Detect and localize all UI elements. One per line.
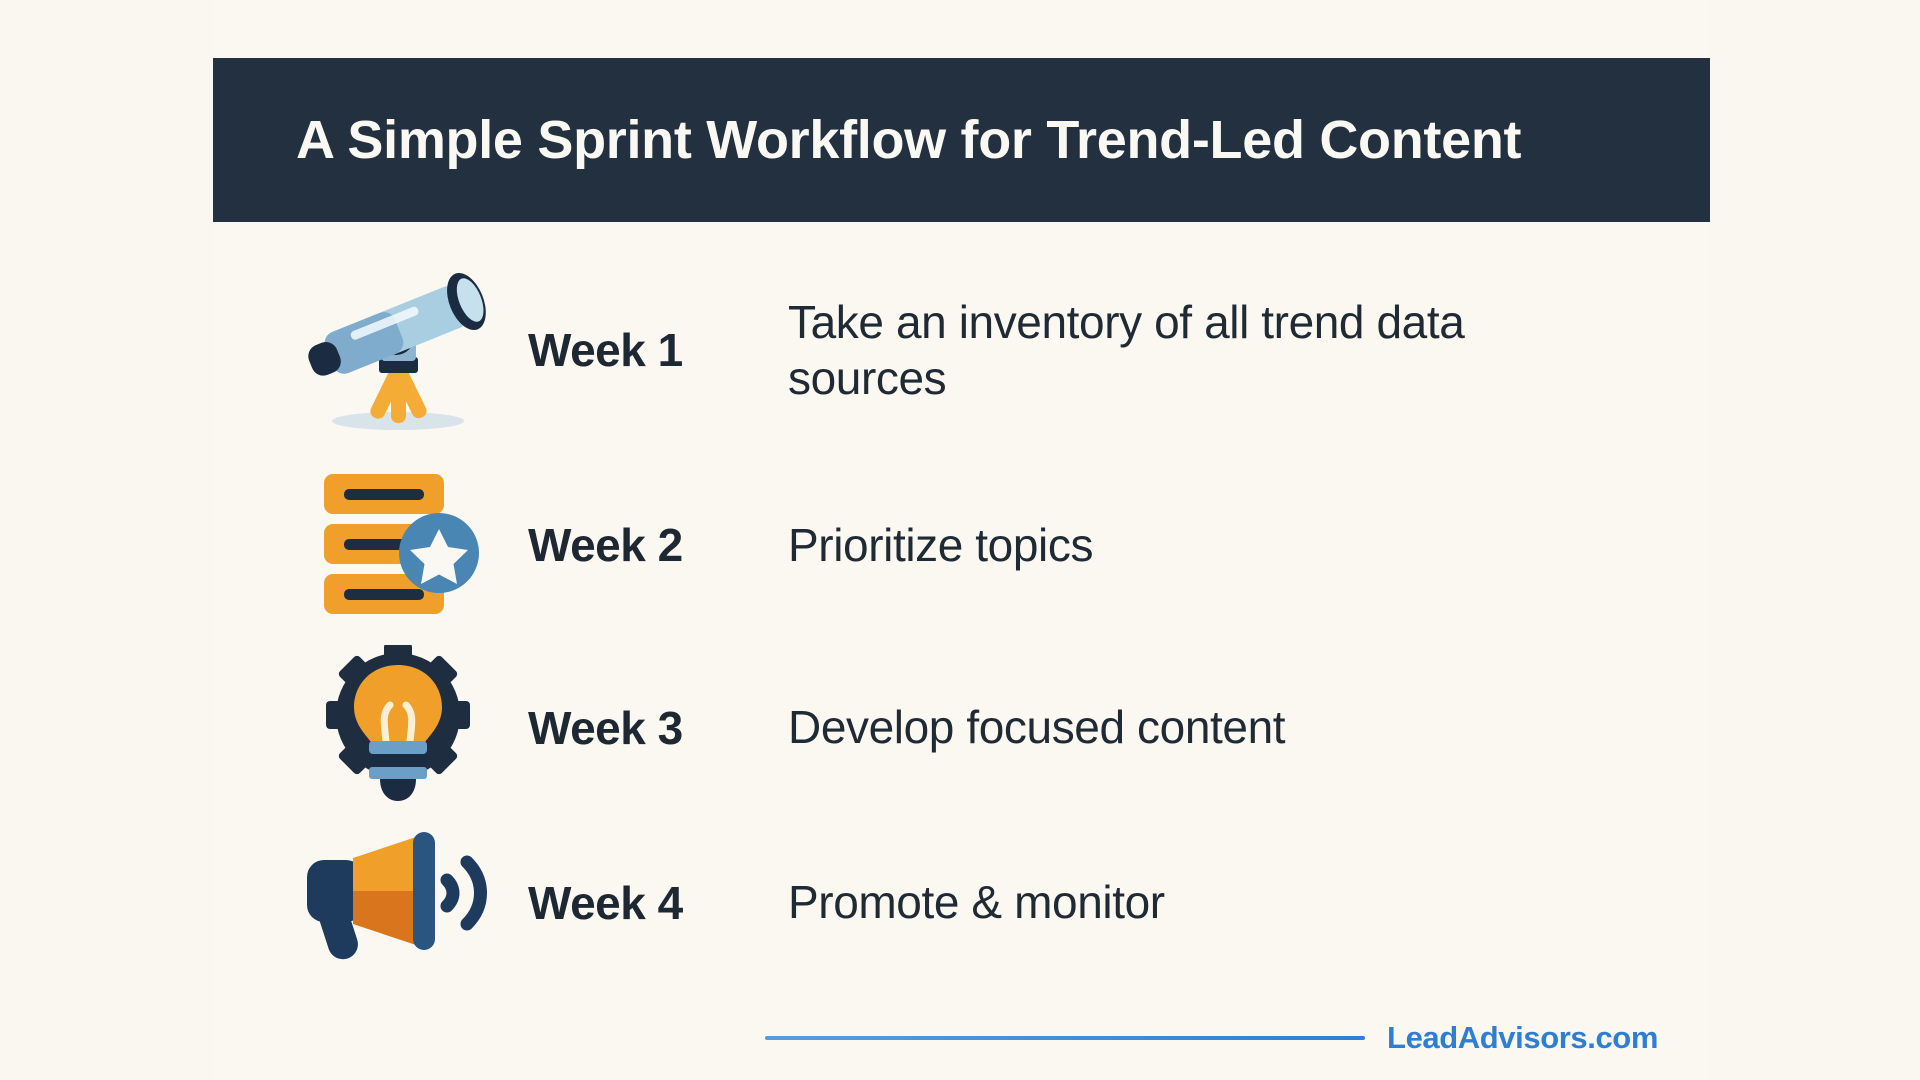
step-week-label: Week 2 [518,518,788,572]
priority-list-star-icon [278,458,518,633]
step-row: Week 1 Take an inventory of all trend da… [213,250,1710,450]
step-description: Promote & monitor [788,874,1165,930]
steps-list: Week 1 Take an inventory of all trend da… [213,250,1710,990]
header-bar: A Simple Sprint Workflow for Trend-Led C… [213,58,1710,222]
step-week-label: Week 4 [518,876,788,930]
megaphone-icon [278,815,518,990]
step-description: Take an inventory of all trend data sour… [788,294,1488,406]
brand-label: LeadAdvisors.com [1387,1020,1658,1056]
footer: LeadAdvisors.com [213,1020,1710,1056]
footer-divider [765,1036,1365,1040]
step-row: Week 2 Prioritize topics [213,450,1710,640]
step-description: Prioritize topics [788,517,1093,573]
infographic-card: A Simple Sprint Workflow for Trend-Led C… [213,0,1710,1080]
telescope-icon [278,263,518,438]
step-week-label: Week 1 [518,323,788,377]
gear-lightbulb-icon [278,640,518,815]
step-description: Develop focused content [788,699,1285,755]
step-week-label: Week 3 [518,701,788,755]
step-row: Week 3 Develop focused content [213,640,1710,815]
page-title: A Simple Sprint Workflow for Trend-Led C… [213,109,1521,171]
step-row: Week 4 Promote & monitor [213,815,1710,990]
